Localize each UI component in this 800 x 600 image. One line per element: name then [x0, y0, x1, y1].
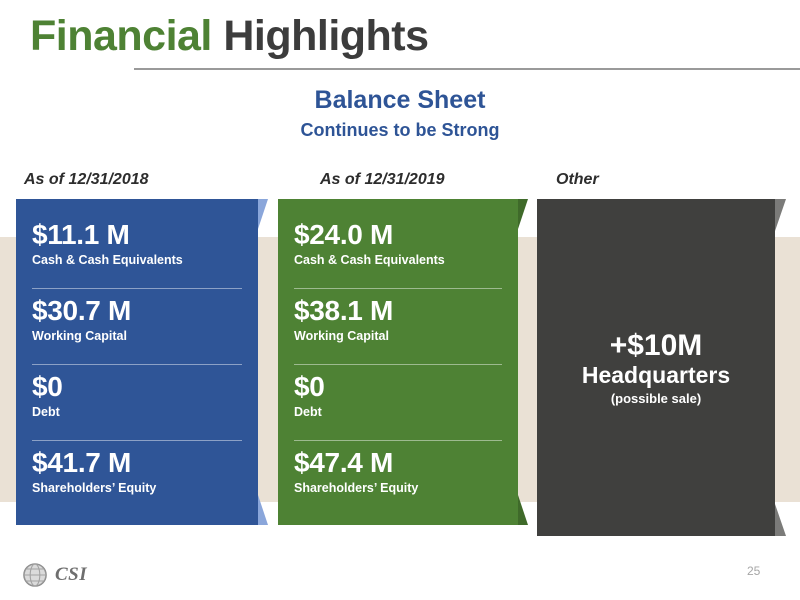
metric-row: $30.7 M Working Capital: [32, 288, 242, 364]
callout-card-other: +$10M Headquarters (possible sale): [537, 199, 775, 536]
metrics-card-2019: $24.0 M Cash & Cash Equivalents $38.1 M …: [278, 199, 518, 525]
metric-label: Working Capital: [32, 325, 242, 343]
callout-note: (possible sale): [611, 389, 701, 406]
metric-row: $41.7 M Shareholders’ Equity: [32, 440, 242, 516]
metric-label: Working Capital: [294, 325, 502, 343]
metric-row: $47.4 M Shareholders’ Equity: [294, 440, 502, 516]
metric-label: Cash & Cash Equivalents: [32, 249, 242, 267]
fold-corner-top-icon: [258, 199, 268, 229]
column-caption-2019: As of 12/31/2019: [320, 171, 445, 189]
column-caption-2018: As of 12/31/2018: [24, 171, 149, 189]
metric-value: $38.1 M: [294, 289, 502, 325]
column-caption-other: Other: [556, 171, 599, 189]
metric-value: $41.7 M: [32, 441, 242, 477]
callout-value: +$10M: [610, 329, 703, 362]
metric-label: Debt: [32, 401, 242, 419]
fold-corner-bottom-icon: [775, 504, 786, 536]
page-title: Financial Highlights: [30, 12, 429, 61]
page-number: 25: [747, 564, 760, 578]
fold-corner-bottom-icon: [518, 495, 528, 525]
metric-row: $0 Debt: [32, 364, 242, 440]
metric-row: $24.0 M Cash & Cash Equivalents: [294, 213, 502, 288]
metric-value: $47.4 M: [294, 441, 502, 477]
metric-value: $11.1 M: [32, 213, 242, 249]
metrics-card-2018: $11.1 M Cash & Cash Equivalents $30.7 M …: [16, 199, 258, 525]
metric-label: Cash & Cash Equivalents: [294, 249, 502, 267]
metric-row: $38.1 M Working Capital: [294, 288, 502, 364]
slide-canvas: Financial Highlights Balance Sheet Conti…: [0, 0, 800, 600]
metric-row: $0 Debt: [294, 364, 502, 440]
metric-value: $0: [32, 365, 242, 401]
metric-label: Shareholders’ Equity: [294, 477, 502, 495]
footer-logo: CSI: [22, 562, 87, 588]
metric-label: Debt: [294, 401, 502, 419]
section-subheading: Continues to be Strong: [0, 120, 800, 141]
fold-corner-bottom-icon: [258, 495, 268, 525]
section-heading: Balance Sheet: [0, 86, 800, 115]
title-divider: [134, 68, 800, 70]
metric-row: $11.1 M Cash & Cash Equivalents: [32, 213, 242, 288]
callout-label: Headquarters: [582, 362, 730, 390]
metric-value: $30.7 M: [32, 289, 242, 325]
globe-icon: [22, 562, 48, 588]
fold-corner-top-icon: [775, 199, 786, 231]
fold-corner-top-icon: [518, 199, 528, 229]
metric-label: Shareholders’ Equity: [32, 477, 242, 495]
metric-value: $0: [294, 365, 502, 401]
page-title-accent: Financial: [30, 12, 212, 60]
logo-text: CSI: [55, 564, 87, 586]
page-title-main: Highlights: [223, 12, 428, 60]
metric-value: $24.0 M: [294, 213, 502, 249]
